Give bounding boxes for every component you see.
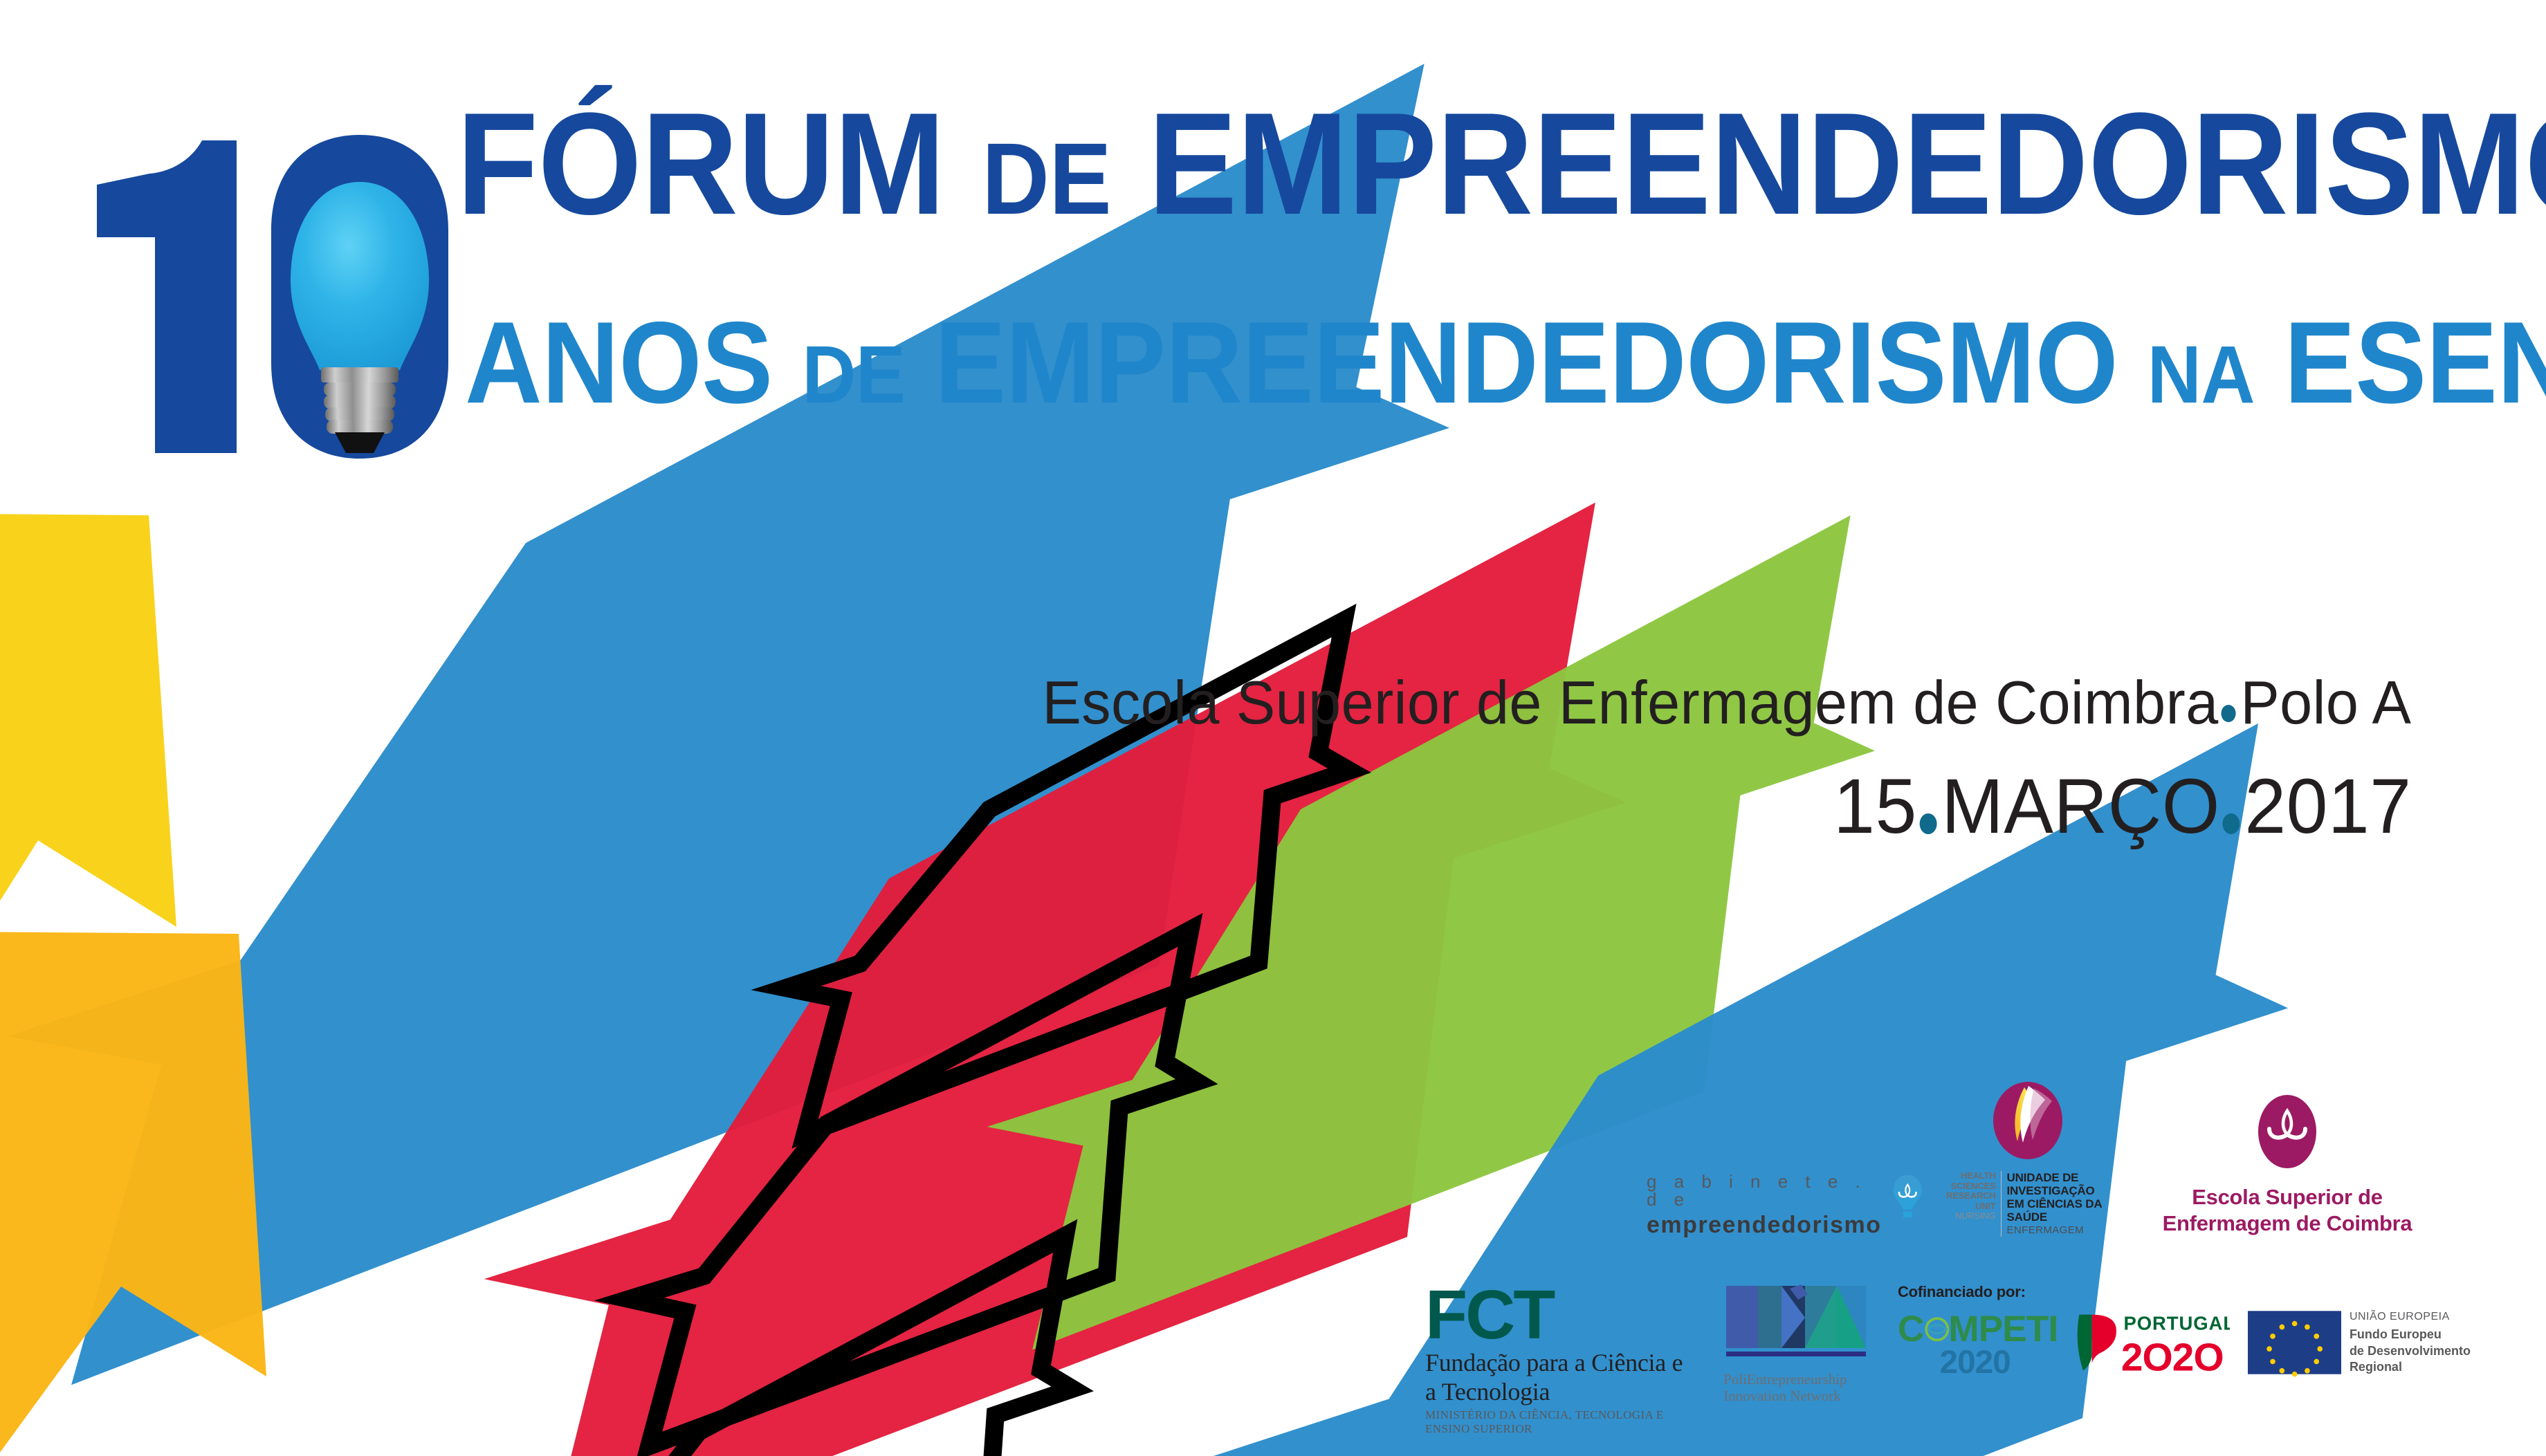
logo-compete-2020: C MPETE 2020: [1898, 1305, 2056, 1380]
logo-pin: PiN PoliEntrepreneurship Innovation Netw…: [1723, 1283, 1870, 1404]
uicisa-portuguese: UNIDADE DE INVESTIGAÇÃO EM CIÊNCIAS DA S…: [2001, 1171, 2114, 1237]
event-poster: FÓRUM DE EMPREENDEDORISMO ANOS DE EMPREE…: [0, 0, 2546, 1456]
title-anos: ANOS: [465, 297, 773, 427]
pin-mark-icon: PiN: [1723, 1283, 1869, 1365]
partner-logos-row-funding: FCT Fundação para a Ciência e a Tecnolog…: [1425, 1283, 2511, 1428]
title-forum: FÓRUM: [457, 82, 945, 245]
venue-polo: Polo A: [2240, 668, 2411, 737]
svg-text:C: C: [1898, 1309, 1923, 1349]
logo-uicisa: HEALTH SCIENCES RESEARCH UNIT NURSING UN…: [1941, 1082, 2114, 1237]
eu-line3: de Desenvolvimento Regional: [2350, 1343, 2511, 1376]
esenfc-lamp-icon: [2251, 1093, 2323, 1177]
gabinete-line2: empreendedorismo: [1647, 1213, 1882, 1237]
partner-logos-row-primary: g a b i n e t e . d e empreendedorismo: [1647, 1071, 2504, 1237]
bulb-screw-4: [327, 420, 393, 434]
fct-line1: Fundação para a Ciência e a Tecnologia: [1425, 1348, 1699, 1406]
venue-date-block: Escola Superior de Enfermagem de Coimbra…: [985, 667, 2411, 851]
title-empreendedorismo-2: EMPREENDEDORISMO: [935, 297, 2118, 427]
uicisa-text: HEALTH SCIENCES RESEARCH UNIT NURSING UN…: [1941, 1171, 2114, 1237]
uicisa-pt-3: ENFERMAGEM: [2007, 1225, 2114, 1237]
esenfc-text: Escola Superior de Enfermagem de Coimbra: [2163, 1184, 2412, 1237]
title-empreendedorismo-1: EMPREENDEDORISMO: [1148, 82, 2546, 245]
logo-portugal-2020: PORTUGAL 2O2O: [2074, 1305, 2230, 1380]
number-10-graphic: [83, 66, 470, 481]
eu-text: UNIÃO EUROPEIA Fundo Europeu de Desenvol…: [2350, 1310, 2511, 1376]
fct-line2: MINISTÉRIO DA CIÊNCIA, TECNOLOGIA E ENSI…: [1425, 1408, 1699, 1436]
eu-line1: UNIÃO EUROPEIA: [2350, 1310, 2511, 1325]
eu-flag-icon: [2248, 1308, 2341, 1377]
date-line: 15MARÇO2017: [1042, 762, 2411, 851]
uicisa-pt-1: UNIDADE DE INVESTIGAÇÃO: [2007, 1171, 2114, 1197]
esenfc-line2: Enfermagem de Coimbra: [2163, 1210, 2412, 1237]
uicisa-english: HEALTH SCIENCES RESEARCH UNIT NURSING: [1941, 1171, 1996, 1222]
date-year: 2017: [2244, 763, 2411, 849]
gabinete-text: g a b i n e t e . d e empreendedorismo: [1647, 1172, 1882, 1237]
title-line-1: FÓRUM DE EMPREENDEDORISMO: [457, 91, 2546, 252]
cofinanciado-label: Cofinanciado por:: [1898, 1283, 2511, 1301]
lightbulb-icon: [1892, 1159, 1923, 1237]
title-esenfc: ESENFC: [2284, 297, 2546, 427]
pin-line2: Innovation Network: [1723, 1388, 1870, 1404]
cofinancing-block: Cofinanciado por: C MPETE 2020 PORTUGAL …: [1898, 1283, 2511, 1380]
logo-fct: FCT Fundação para a Ciência e a Tecnolog…: [1425, 1283, 1699, 1436]
date-month: MARÇO: [1941, 763, 2220, 849]
portugal-word: PORTUGAL: [2124, 1313, 2230, 1334]
title-de-2: DE: [802, 329, 905, 420]
digit-one: [97, 140, 237, 453]
venue-name: Escola Superior de Enfermagem de Coimbra: [1042, 668, 2218, 737]
eu-line2: Fundo Europeu: [2350, 1327, 2511, 1343]
headline-block: FÓRUM DE EMPREENDEDORISMO ANOS DE EMPREE…: [0, 0, 2546, 498]
date-day: 15: [1833, 763, 1917, 849]
uicisa-pt-2: EM CIÊNCIAS DA SAÚDE: [2007, 1197, 2114, 1224]
logo-gabinete-empreendedorismo: g a b i n e t e . d e empreendedorismo: [1647, 1159, 1923, 1237]
uicisa-en-3: NURSING: [1941, 1211, 1996, 1222]
logo-european-union: UNIÃO EUROPEIA Fundo Europeu de Desenvol…: [2248, 1308, 2511, 1377]
title-na: NA: [2147, 329, 2255, 420]
edition-number-10: [83, 66, 470, 481]
fct-mark: FCT: [1425, 1283, 1699, 1347]
separator-dot-2: [2222, 813, 2240, 834]
gabinete-line1: g a b i n e t e . d e: [1647, 1172, 1882, 1208]
pin-line1: PoliEntrepreneurship: [1723, 1371, 1870, 1388]
portugal-year: 2O2O: [2121, 1336, 2224, 1379]
arrow-amber-lower: [0, 930, 266, 1456]
cofinancing-logos: C MPETE 2020 PORTUGAL 2O2O: [1898, 1305, 2511, 1380]
uicisa-flame-icon: [1987, 1082, 2069, 1168]
bulb-collar: [321, 367, 399, 383]
pin-subtitle: PoliEntrepreneurship Innovation Network: [1723, 1371, 1870, 1404]
bulb-screw-1: [324, 383, 396, 396]
compete-year: 2020: [1939, 1344, 2010, 1380]
title-de-1: DE: [982, 122, 1111, 236]
bulb-screw-2: [324, 395, 396, 409]
separator-dot-venue: [2221, 705, 2235, 722]
separator-dot-1: [1919, 813, 1936, 834]
logo-esenfc: Escola Superior de Enfermagem de Coimbra: [2156, 1093, 2419, 1237]
title-line-2: ANOS DE EMPREENDEDORISMO NA ESENFC: [465, 304, 2546, 433]
bulb-glass: [291, 182, 429, 370]
venue-line: Escola Superior de Enfermagem de Coimbra…: [1042, 667, 2411, 738]
uicisa-en-1: HEALTH SCIENCES: [1941, 1171, 1996, 1191]
bulb-screw-3: [325, 407, 394, 421]
esenfc-line1: Escola Superior de: [2163, 1184, 2412, 1210]
uicisa-en-2: RESEARCH UNIT: [1941, 1191, 1996, 1211]
